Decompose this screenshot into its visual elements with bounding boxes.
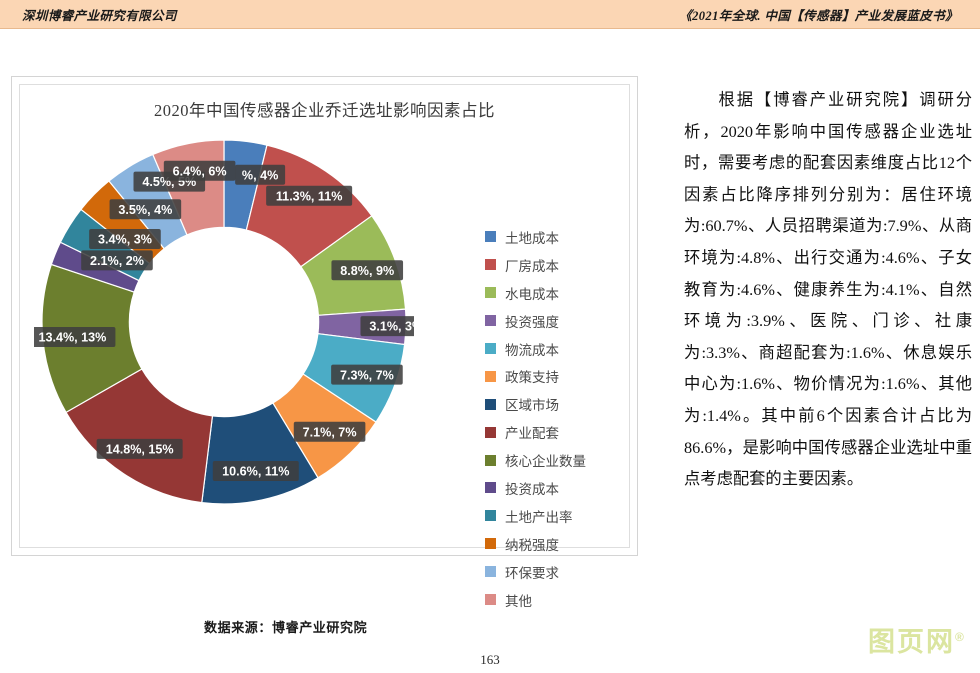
legend-item[interactable]: 核心企业数量 <box>485 446 635 474</box>
legend-item-label: 核心企业数量 <box>505 450 586 470</box>
site-watermark: 图页网® <box>868 620 966 659</box>
data-label: 7.3%, 7% <box>340 368 394 382</box>
legend-color-swatch <box>485 482 496 493</box>
paragraph-text: 根据【博睿产业研究院】调研分析，2020年影响中国传感器企业选址时，需要考虑的配… <box>684 90 972 488</box>
data-label: 11.3%, 11% <box>276 189 343 203</box>
watermark-registered-mark: ® <box>955 630 966 644</box>
legend-color-swatch <box>485 259 496 270</box>
legend-item-label: 其他 <box>505 590 532 610</box>
data-label: %, 4% <box>242 168 278 182</box>
analysis-paragraph: 根据【博睿产业研究院】调研分析，2020年影响中国传感器企业选址时，需要考虑的配… <box>684 84 972 495</box>
header-company-name: 深圳博睿产业研究有限公司 <box>22 5 177 24</box>
legend-color-swatch <box>485 427 496 438</box>
legend-item[interactable]: 政策支持 <box>485 362 635 390</box>
header-divider <box>0 28 980 29</box>
legend-item[interactable]: 产业配套 <box>485 418 635 446</box>
header-report-title: 《2021年全球. 中国【传感器】产业发展蓝皮书》 <box>679 5 958 24</box>
legend-color-swatch <box>485 594 496 605</box>
legend-item-label: 政策支持 <box>505 366 559 386</box>
data-label: 3.1%, 3% <box>369 320 414 334</box>
legend-item-label: 土地成本 <box>505 227 559 247</box>
data-label: 3.4%, 3% <box>98 233 152 247</box>
legend-color-swatch <box>485 287 496 298</box>
donut-chart-svg: %, 4%11.3%, 11%8.8%, 9%3.1%, 3%7.3%, 7%7… <box>34 129 414 539</box>
legend-color-swatch <box>485 399 496 410</box>
legend-color-swatch <box>485 538 496 549</box>
data-label: 8.8%, 9% <box>340 264 394 278</box>
legend-item[interactable]: 土地产出率 <box>485 502 635 530</box>
chart-panel: 2020年中国传感器企业乔迁选址影响因素占比 %, 4%11.3%, 11%8.… <box>11 76 638 556</box>
legend-item-label: 物流成本 <box>505 339 559 359</box>
data-label: 6.4%, 6% <box>173 164 227 178</box>
legend-item[interactable]: 投资强度 <box>485 307 635 335</box>
chart-title: 2020年中国传感器企业乔迁选址影响因素占比 <box>12 97 637 121</box>
legend-color-swatch <box>485 315 496 326</box>
donut-chart: %, 4%11.3%, 11%8.8%, 9%3.1%, 3%7.3%, 7%7… <box>34 129 414 539</box>
legend-item[interactable]: 水电成本 <box>485 279 635 307</box>
legend-item[interactable]: 纳税强度 <box>485 530 635 558</box>
page-number: 163 <box>0 652 980 668</box>
chart-legend: 土地成本厂房成本水电成本投资强度物流成本政策支持区域市场产业配套核心企业数量投资… <box>485 223 635 613</box>
data-label: 3.5%, 4% <box>118 203 172 217</box>
legend-color-swatch <box>485 231 496 242</box>
data-label: 7.1%, 7% <box>303 425 357 439</box>
legend-item-label: 水电成本 <box>505 283 559 303</box>
legend-item[interactable]: 土地成本 <box>485 223 635 251</box>
data-label: 10.6%, 11% <box>222 465 289 479</box>
legend-color-swatch <box>485 343 496 354</box>
legend-item[interactable]: 厂房成本 <box>485 251 635 279</box>
watermark-text: 图页网 <box>868 627 955 657</box>
legend-item-label: 投资成本 <box>505 478 559 498</box>
legend-item[interactable]: 投资成本 <box>485 474 635 502</box>
data-label: 13.4%, 13% <box>38 331 106 345</box>
legend-item-label: 厂房成本 <box>505 255 559 275</box>
legend-item[interactable]: 环保要求 <box>485 558 635 586</box>
legend-color-swatch <box>485 510 496 521</box>
data-label: 2.1%, 2% <box>90 254 144 268</box>
legend-item[interactable]: 物流成本 <box>485 335 635 363</box>
data-source-note: 数据来源：博睿产业研究院 <box>204 617 367 636</box>
legend-item-label: 环保要求 <box>505 562 559 582</box>
legend-color-swatch <box>485 566 496 577</box>
legend-item-label: 纳税强度 <box>505 534 559 554</box>
legend-item-label: 土地产出率 <box>505 506 573 526</box>
legend-item-label: 产业配套 <box>505 422 559 442</box>
legend-color-swatch <box>485 455 496 466</box>
legend-item[interactable]: 其他 <box>485 586 635 614</box>
legend-item-label: 投资强度 <box>505 311 559 331</box>
legend-item-label: 区域市场 <box>505 394 559 414</box>
legend-color-swatch <box>485 371 496 382</box>
page-header: 深圳博睿产业研究有限公司 《2021年全球. 中国【传感器】产业发展蓝皮书》 <box>0 0 980 28</box>
data-label: 14.8%, 15% <box>106 442 174 456</box>
legend-item[interactable]: 区域市场 <box>485 390 635 418</box>
